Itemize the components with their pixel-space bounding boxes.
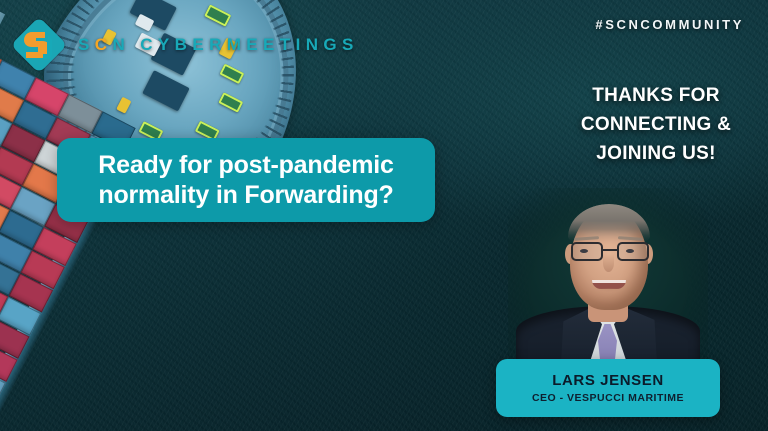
thanks-line-3: JOINING US! [558,140,754,169]
speaker-name-badge: LARS JENSEN CEO - VESPUCCI MARITIME [496,359,720,417]
session-title-card: Ready for post-pandemic normality in For… [57,138,435,222]
session-title-text: Ready for post-pandemic normality in For… [84,150,407,211]
brand-text-rest: N CYBERMEETINGS [112,35,358,54]
thanks-line-2: CONNECTING & [558,111,754,140]
speaker-name: LARS JENSEN [552,372,664,389]
portrait-eye-left [580,249,588,253]
session-title-line-1: Ready for post-pandemic [98,150,393,181]
webinar-promo-slide: SCN CYBERMEETINGS #SCNCOMMUNITY THANKS F… [0,0,768,431]
session-title-line-2: normality in Forwarding? [98,180,393,211]
thanks-line-1: THANKS FOR [558,82,754,111]
portrait-figure [508,188,708,374]
portrait-nose [603,254,614,272]
speaker-portrait [508,188,708,374]
portrait-chin [590,288,628,300]
speaker-role: CEO - VESPUCCI MARITIME [532,392,684,404]
brand-wordmark: SCN CYBERMEETINGS [78,35,359,55]
brand-text-c-highlight: C [95,35,113,54]
brand-logo[interactable]: SCN CYBERMEETINGS [16,22,359,68]
brand-text-s: S [78,35,95,54]
thanks-message: THANKS FOR CONNECTING & JOINING US! [558,82,754,169]
community-hashtag: #SCNCOMMUNITY [595,17,744,32]
logo-s-glyph [23,30,54,60]
scn-diamond-logo-icon [16,22,62,68]
portrait-eye-right [626,249,634,253]
glasses-bridge [603,249,617,251]
